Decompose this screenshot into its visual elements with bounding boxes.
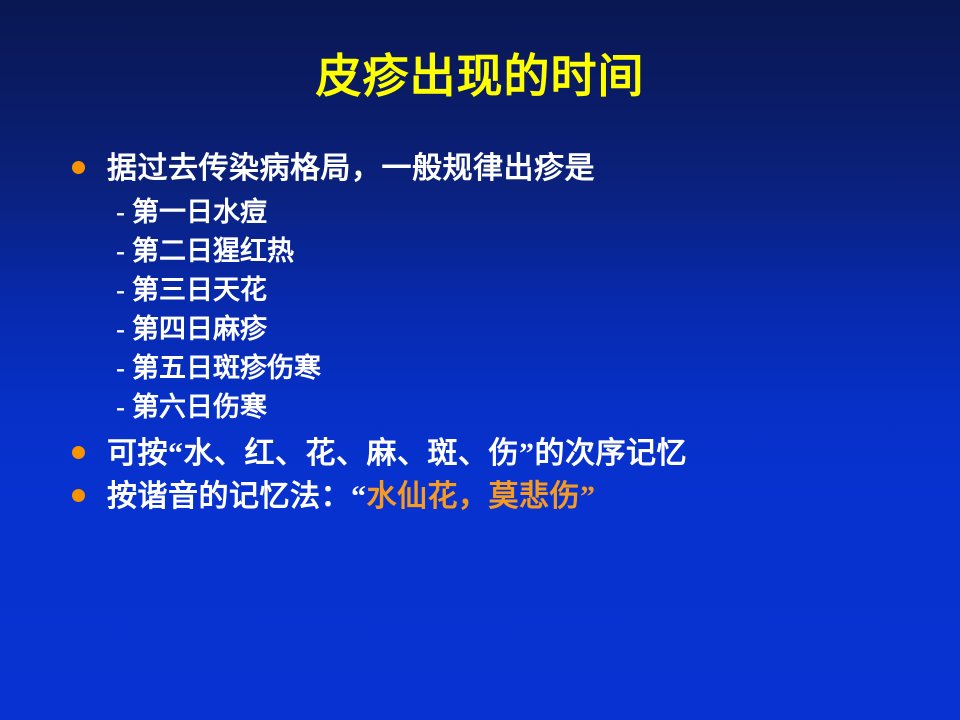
bullet-dot-icon bbox=[72, 446, 85, 459]
dash-icon: - bbox=[116, 232, 125, 271]
bullet-item-3-quoted-text: 水仙花，莫悲伤 bbox=[367, 480, 581, 513]
bullet-item-3-lead-text: 按谐音的记忆法： bbox=[107, 480, 351, 513]
dash-icon: - bbox=[116, 271, 125, 310]
dash-icon: - bbox=[116, 310, 125, 349]
bullet-item-3-label: 按谐音的记忆法：“水仙花，莫悲伤” bbox=[107, 476, 912, 517]
dash-icon: - bbox=[116, 193, 125, 232]
sub-list: - 第一日水痘 - 第二日猩红热 - 第三日天花 - 第四日麻疹 - 第五日斑疹… bbox=[72, 193, 912, 427]
dash-icon: - bbox=[116, 388, 125, 427]
bullet-item-2-label: 可按“水、红、花、麻、斑、伤”的次序记忆 bbox=[107, 433, 912, 474]
sub-item-4-label: 第四日麻疹 bbox=[132, 310, 267, 349]
sub-item-5: - 第五日斑疹伤寒 bbox=[72, 349, 912, 388]
slide-body: 据过去传染病格局，一般规律出疹是 - 第一日水痘 - 第二日猩红热 - 第三日天… bbox=[72, 148, 912, 519]
sub-item-5-label: 第五日斑疹伤寒 bbox=[132, 349, 321, 388]
sub-item-2-label: 第二日猩红热 bbox=[132, 232, 294, 271]
bullet-item-1: 据过去传染病格局，一般规律出疹是 bbox=[72, 148, 912, 189]
dash-icon: - bbox=[116, 349, 125, 388]
bullet-dot-icon bbox=[72, 489, 85, 502]
bullet-item-2: 可按“水、红、花、麻、斑、伤”的次序记忆 bbox=[72, 433, 912, 474]
bullet-item-1-label: 据过去传染病格局，一般规律出疹是 bbox=[107, 148, 912, 189]
slide-canvas: 皮疹出现的时间 据过去传染病格局，一般规律出疹是 - 第一日水痘 - 第二日猩红… bbox=[0, 0, 960, 720]
sub-item-4: - 第四日麻疹 bbox=[72, 310, 912, 349]
sub-item-6: - 第六日伤寒 bbox=[72, 388, 912, 427]
closing-quote-glyph: ” bbox=[580, 480, 596, 513]
bullet-dot-icon bbox=[72, 161, 85, 174]
sub-item-3: - 第三日天花 bbox=[72, 271, 912, 310]
sub-item-2: - 第二日猩红热 bbox=[72, 232, 912, 271]
page-title: 皮疹出现的时间 bbox=[0, 48, 960, 106]
sub-item-1: - 第一日水痘 bbox=[72, 193, 912, 232]
sub-item-6-label: 第六日伤寒 bbox=[132, 388, 267, 427]
sub-item-1-label: 第一日水痘 bbox=[132, 193, 267, 232]
opening-quote-glyph: “ bbox=[351, 480, 367, 513]
sub-item-3-label: 第三日天花 bbox=[132, 271, 267, 310]
bullet-item-3: 按谐音的记忆法：“水仙花，莫悲伤” bbox=[72, 476, 912, 517]
